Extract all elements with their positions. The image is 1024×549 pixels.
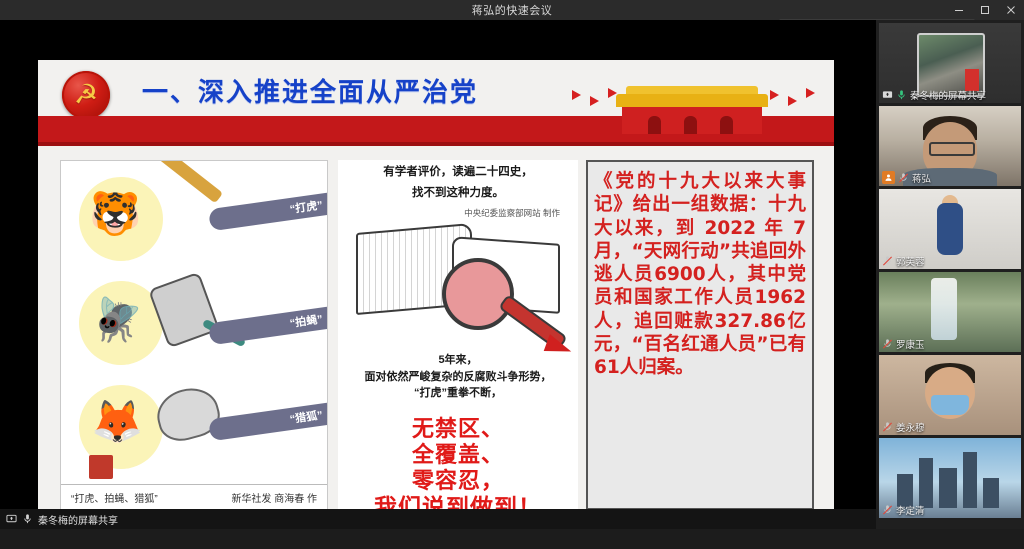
slide-header: ☭ 一、深入推进全面从严治党: [38, 60, 834, 123]
close-button[interactable]: [998, 0, 1024, 20]
tiger-icon: 🐯: [89, 193, 141, 235]
participant-name: 蒋弘: [912, 171, 931, 185]
host-badge: [882, 171, 895, 184]
statistics-text-panel: 《党的十九大以来大事记》给出一组数据：十九大以来，到 2022 年 7 月，“天…: [586, 160, 814, 510]
minimize-button[interactable]: [946, 0, 972, 20]
tile-label: 郭芙蓉: [879, 252, 925, 269]
book-illustration: [356, 218, 561, 336]
participant-name: 罗康玉: [896, 337, 925, 351]
arm-fox: “猎狐”: [208, 403, 327, 441]
arm-fly: “拍蝇”: [208, 307, 327, 345]
label-liehu: “猎狐”: [289, 407, 324, 427]
tile-label: 罗康玉: [879, 335, 925, 352]
microphone-icon: [22, 513, 33, 525]
microphone-muted-icon: [882, 338, 893, 350]
cartoon-illustration: 🐯 🪰 🦊 “打虎” “拍蝇”: [61, 161, 327, 479]
participant-name: 李定清: [896, 503, 925, 517]
participant-tile-guofurong[interactable]: 郭芙蓉: [879, 189, 1021, 269]
microphone-muted-icon: [882, 421, 893, 433]
participant-tile-screenshare[interactable]: 秦冬梅的屏幕共享: [879, 23, 1021, 103]
middle-body-text: 5年来， 面对依然严峻复杂的反腐败斗争形势， “打虎”重拳不断，: [338, 352, 578, 402]
slide-body: 🐯 🪰 🦊 “打虎” “拍蝇”: [38, 146, 834, 526]
tile-label: 李定清: [879, 501, 925, 518]
slide-title: 一、深入推进全面从严治党: [142, 72, 478, 109]
tile-label: 姜永穆: [879, 418, 925, 435]
participant-name: 郭芙蓉: [896, 254, 925, 268]
participant-name: 秦冬梅的屏幕共享: [910, 88, 986, 102]
body-line-2: 面对依然严峻复杂的反腐败斗争形势，: [338, 369, 578, 386]
body-line-1: 5年来，: [338, 352, 578, 369]
club-icon: [157, 161, 223, 203]
label-paying: “拍蝇”: [289, 311, 324, 331]
party-emblem-icon: ☭: [62, 71, 110, 119]
seal-stamp-icon: [89, 455, 113, 479]
slogan-line-1: 无禁区、: [338, 416, 578, 442]
title-bar: 蒋弘的快速会议: [0, 0, 1024, 20]
window-title: 蒋弘的快速会议: [472, 2, 553, 18]
screen-share-icon: [882, 89, 893, 101]
microphone-muted-icon: [898, 172, 909, 184]
quote-line-2: 找不到这种力度。: [338, 185, 578, 202]
presentation-slide: ☭ 一、深入推进全面从严治党: [38, 60, 834, 526]
slogan-line-3: 零容忍，: [338, 468, 578, 494]
slogan-line-2: 全覆盖、: [338, 442, 578, 468]
status-bar: 秦冬梅的屏幕共享: [0, 509, 882, 529]
statistics-text: 《党的十九大以来大事记》给出一组数据：十九大以来，到 2022 年 7 月，“天…: [594, 170, 806, 380]
status-bar-label: 秦冬梅的屏幕共享: [38, 512, 118, 527]
screen-share-icon: [6, 513, 17, 525]
tile-label: 蒋弘: [879, 169, 931, 186]
body-line-3: “打虎”重拳不断，: [338, 385, 578, 402]
shared-screen-stage[interactable]: ☭ 一、深入推进全面从严治党: [0, 20, 876, 529]
arm-tiger: “打虎”: [208, 193, 327, 231]
participant-tile-luokangyu[interactable]: 罗康玉: [879, 272, 1021, 352]
label-dahu: “打虎”: [289, 197, 324, 217]
meeting-window: 蒋弘的快速会议 正在讲话: 秦冬梅: ☭ 一、深入推进全面从严治党: [0, 0, 1024, 549]
magnifier-icon: [442, 258, 514, 330]
caption-right: 新华社发 商海春 作: [231, 490, 317, 505]
microphone-muted-icon: [882, 255, 893, 267]
participant-name: 姜永穆: [896, 420, 925, 434]
quote-line-1: 有学者评价，读遍二十四史，: [338, 164, 578, 181]
middle-panel: 有学者评价，读遍二十四史， 找不到这种力度。 中央纪委监察部网站 制作 5年来，…: [338, 160, 578, 514]
cartoon-caption: “打虎、拍蝇、猎狐” 新华社发 商海春 作: [61, 484, 327, 505]
cartoon-panel: 🐯 🪰 🦊 “打虎” “拍蝇”: [60, 160, 328, 514]
slide-red-bar: [38, 116, 834, 142]
fly-icon: 🪰: [91, 299, 143, 341]
caption-left: “打虎、拍蝇、猎狐”: [71, 490, 158, 505]
participant-tile-jiangyongmu[interactable]: 姜永穆: [879, 355, 1021, 435]
fox-icon: 🦊: [91, 401, 143, 443]
participant-tile-jianghong[interactable]: 蒋弘: [879, 106, 1021, 186]
tile-label: 秦冬梅的屏幕共享: [879, 86, 986, 103]
tiananmen-gate-icon: [564, 76, 822, 144]
microphone-muted-icon: [882, 504, 893, 516]
participant-rail[interactable]: 秦冬梅的屏幕共享 蒋弘: [876, 20, 1024, 529]
window-controls: [946, 0, 1024, 20]
maximize-button[interactable]: [972, 0, 998, 20]
participant-tile-lidingqing[interactable]: 李定清: [879, 438, 1021, 518]
microphone-icon: [896, 89, 907, 101]
slogan-block: 无禁区、 全覆盖、 零容忍， 我们说到做到！: [338, 416, 578, 521]
